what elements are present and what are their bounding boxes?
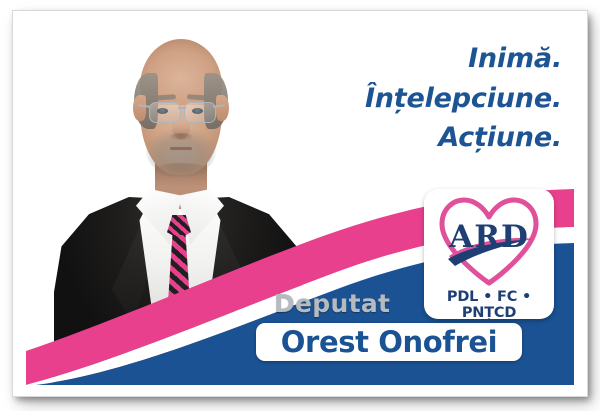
slogan-line-3: Acțiune.: [365, 118, 562, 158]
campaign-slogan: Inimă. Înțelepciune. Acțiune.: [365, 39, 562, 158]
poster-artwork: Inimă. Înțelepciune. Acțiune. Deputat Or…: [26, 21, 574, 385]
nose-shadow: [170, 133, 192, 140]
chin-shadow: [154, 163, 208, 177]
slogan-line-1: Inimă.: [365, 39, 562, 79]
mouth: [170, 147, 192, 150]
candidate-name: Orest Onofrei: [256, 323, 522, 361]
slogan-line-2: Înțelepciune.: [365, 79, 562, 119]
ear-left: [133, 95, 146, 121]
ard-acronym: ARD: [424, 219, 554, 255]
ear-right: [216, 95, 229, 121]
candidate-name-box: Orest Onofrei: [256, 323, 522, 361]
coalition-parties: PDL • FC • PNȚCD: [424, 289, 554, 321]
poster-frame: Inimă. Înțelepciune. Acțiune. Deputat Or…: [0, 0, 600, 411]
ard-logo-card: ARD PDL • FC • PNȚCD: [424, 189, 554, 319]
eyeglasses-bridge: [178, 107, 186, 109]
candidate-role-label: Deputat: [274, 289, 390, 318]
